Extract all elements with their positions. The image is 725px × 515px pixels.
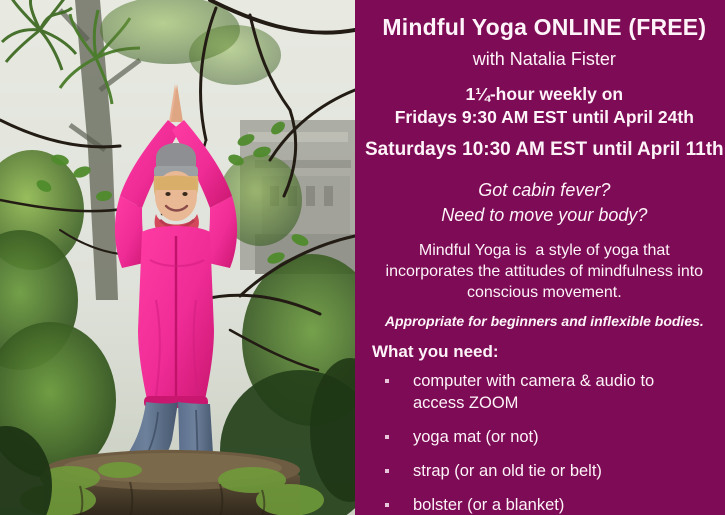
- yoga-photo: [0, 0, 355, 515]
- class-description: Mindful Yoga is a style of yoga that inc…: [365, 241, 724, 303]
- appropriate-note: Appropriate for beginners and inflexible…: [365, 313, 724, 330]
- flyer-title: Mindful Yoga ONLINE (FREE): [365, 14, 724, 40]
- bullet-icon: [385, 379, 389, 383]
- hook-line-2: Need to move your body?: [365, 204, 724, 227]
- list-item-label: computer with camera & audio to access Z…: [413, 372, 654, 411]
- list-item: computer with camera & audio to access Z…: [385, 371, 685, 413]
- friday-schedule: Fridays 9:30 AM EST until April 24th: [365, 106, 724, 130]
- instructor-name: with Natalia Fister: [365, 49, 724, 71]
- class-duration: 1¼-hour weekly on: [365, 84, 724, 106]
- bullet-icon: [385, 469, 389, 473]
- list-item: bolster (or a blanket): [385, 495, 685, 515]
- bullet-icon: [385, 503, 389, 507]
- list-item-label: strap (or an old tie or belt): [413, 462, 602, 480]
- needs-list: computer with camera & audio to access Z…: [365, 371, 724, 515]
- list-item-label: yoga mat (or not): [413, 428, 539, 446]
- bullet-icon: [385, 435, 389, 439]
- yoga-photo-illustration: [0, 0, 355, 515]
- hook-line-1: Got cabin fever?: [365, 179, 724, 202]
- info-panel: Mindful Yoga ONLINE (FREE) with Natalia …: [355, 0, 725, 515]
- list-item-label: bolster (or a blanket): [413, 496, 564, 514]
- list-item: yoga mat (or not): [385, 427, 685, 448]
- saturday-schedule: Saturdays 10:30 AM EST until April 11th: [365, 138, 724, 163]
- needs-heading: What you need:: [365, 342, 724, 362]
- yoga-class-flyer: Mindful Yoga ONLINE (FREE) with Natalia …: [0, 0, 725, 515]
- list-item: strap (or an old tie or belt): [385, 461, 685, 482]
